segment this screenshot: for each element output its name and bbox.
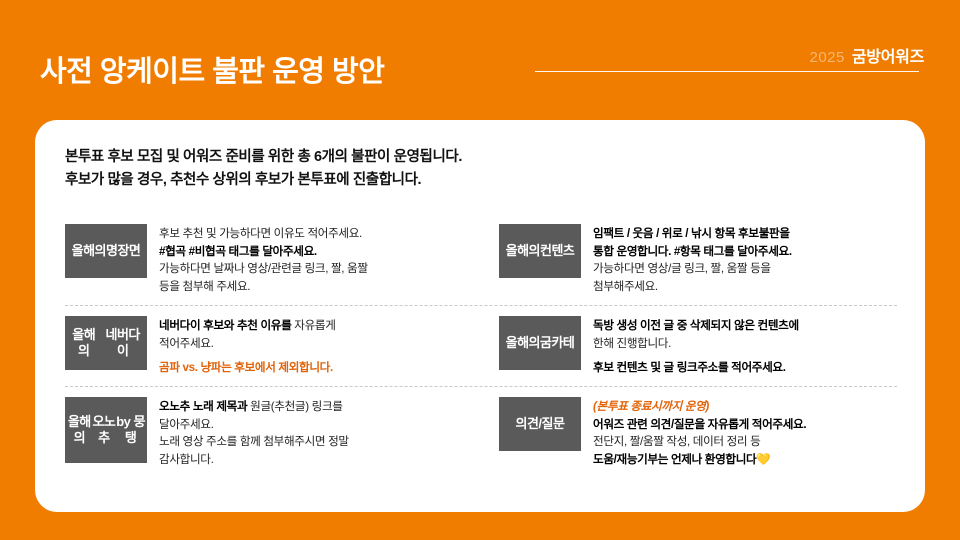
brand-year: 2025	[810, 49, 845, 66]
page-header: 사전 앙케이트 불판 운영 방안 2025 굼방어워즈	[0, 0, 960, 118]
category-item-contents: 올해의컨텐츠 임팩트 / 웃음 / 위로 / 낚시 항목 후보불판을통합 운영합…	[481, 224, 897, 295]
category-item-neverdie: 올해의네버다이 네버다이 후보와 추천 이유를 자유롭게적어주세요. 곰파 vs…	[65, 316, 481, 376]
category-description: 오노추 노래 제목과 원글(추천글) 링크를달아주세요.노래 영상 주소를 함께…	[147, 397, 349, 468]
brand-lockup: 2025 굼방어워즈	[810, 43, 924, 67]
category-description: 네버다이 후보와 추천 이유를 자유롭게적어주세요. 곰파 vs. 냥파는 후보…	[147, 316, 336, 376]
category-grid: 올해의명장면 후보 추천 및 가능하다면 이유도 적어주세요.#협곡 #비협곡 …	[65, 214, 897, 479]
category-description: 후보 추천 및 가능하다면 이유도 적어주세요.#협곡 #비협곡 태그를 달아주…	[147, 224, 368, 295]
category-row: 올해의오노추by 뭉탱 오노추 노래 제목과 원글(추천글) 링크를달아주세요.…	[65, 386, 897, 478]
category-tag: 올해의컨텐츠	[499, 224, 581, 278]
category-description: (본투표 종료시까지 운영)어워즈 관련 의견/질문을 자유롭게 적어주세요.전…	[581, 397, 806, 468]
category-item-goomcate: 올해의굼카테 독방 생성 이전 글 중 삭제되지 않은 컨텐츠에한해 진행합니다…	[481, 316, 897, 376]
brand-name: 굼방어워즈	[852, 43, 924, 67]
header-divider-rule	[535, 71, 919, 72]
intro-text: 본투표 후보 모집 및 어워즈 준비를 위한 총 6개의 불판이 운영됩니다. …	[65, 146, 462, 193]
page-title: 사전 앙케이트 불판 운영 방안	[40, 48, 384, 90]
category-tag: 의견/질문	[499, 397, 581, 451]
category-description: 독방 생성 이전 글 중 삭제되지 않은 컨텐츠에한해 진행합니다. 후보 컨텐…	[581, 316, 799, 376]
intro-line-2: 후보가 많을 경우, 추천수 상위의 후보가 본투표에 진출합니다.	[65, 169, 462, 192]
content-card: 본투표 후보 모집 및 어워즈 준비를 위한 총 6개의 불판이 운영됩니다. …	[35, 120, 925, 512]
category-tag: 올해의굼카테	[499, 316, 581, 370]
category-description: 임팩트 / 웃음 / 위로 / 낚시 항목 후보불판을통합 운영합니다. #항목…	[581, 224, 792, 295]
category-tag: 올해의오노추by 뭉탱	[65, 397, 147, 463]
category-item-opinion: 의견/질문 (본투표 종료시까지 운영)어워즈 관련 의견/질문을 자유롭게 적…	[481, 397, 897, 468]
category-row: 올해의네버다이 네버다이 후보와 추천 이유를 자유롭게적어주세요. 곰파 vs…	[65, 305, 897, 386]
category-tag: 올해의명장면	[65, 224, 147, 278]
category-tag: 올해의네버다이	[65, 316, 147, 370]
category-row: 올해의명장면 후보 추천 및 가능하다면 이유도 적어주세요.#협곡 #비협곡 …	[65, 214, 897, 305]
category-item-myungjangmyeon: 올해의명장면 후보 추천 및 가능하다면 이유도 적어주세요.#협곡 #비협곡 …	[65, 224, 481, 295]
intro-line-1: 본투표 후보 모집 및 어워즈 준비를 위한 총 6개의 불판이 운영됩니다.	[65, 146, 462, 169]
category-item-onochu: 올해의오노추by 뭉탱 오노추 노래 제목과 원글(추천글) 링크를달아주세요.…	[65, 397, 481, 468]
